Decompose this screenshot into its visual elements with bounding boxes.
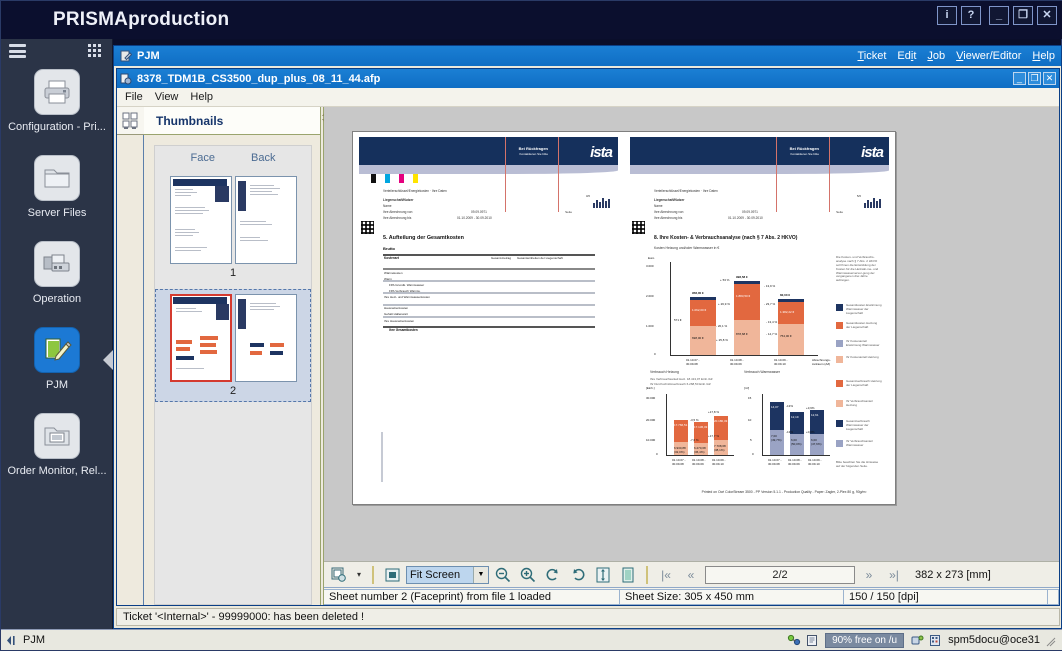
chart-costs: Euro 3.000 2.000 1.000 0 (646, 258, 826, 364)
page-label-right: Seite (836, 210, 843, 214)
network-icon[interactable] (787, 634, 800, 647)
viewer-statusbar: Sheet number 2 (Faceprint) from file 1 l… (324, 587, 1059, 605)
pjm-window: PJM Ticket Edit Job Viewer/Editor Help 8… (113, 45, 1062, 629)
page-footer: Printed on Océ ColorStream 3500 - PP Ver… (684, 490, 884, 494)
document-titlebar: 8378_TDM1B_CS3500_dup_plus_08_11_44.afp … (117, 69, 1059, 88)
fold-line (558, 137, 559, 212)
pjm-menubar: Ticket Edit Job Viewer/Editor Help (857, 50, 1055, 62)
section-title-left: 5. Aufteilung der Gesamtkosten (383, 235, 464, 241)
table-header-einheiten: Gesamteinheiten der Liegenschaft (517, 256, 567, 260)
document-menubar: File View Help (117, 88, 1059, 107)
table-row-label: FPA Grundk. Warmwasser (389, 283, 424, 287)
qr-code-icon (361, 221, 374, 234)
grid-apps-icon[interactable] (88, 44, 103, 58)
menu-edit[interactable]: Edit (897, 50, 916, 62)
fold-line (776, 137, 777, 212)
status-dpi: 150 / 150 [dpi] (843, 589, 1048, 605)
contact-heading-text: Bei Rückfragen (790, 146, 819, 151)
doc-period-to-value: 01.10.2009 - 30.09.2010 (728, 216, 763, 220)
page-header-band (359, 137, 618, 167)
thumbnails-title: Thumbnails (156, 114, 223, 128)
thumbnail-back[interactable] (235, 176, 297, 264)
thumbnail-back[interactable] (235, 294, 297, 382)
doc-property-label: Liegenschaft/Nutzer (654, 198, 684, 202)
color-calibration-bar (371, 174, 418, 183)
pjm-status-message: Ticket '<Internal>' - 99999000: has been… (116, 608, 1060, 626)
close-button[interactable]: ✕ (1037, 6, 1057, 25)
taskbar: PJM 90% free on /u (1, 629, 1062, 650)
tab-thumbnails[interactable] (117, 107, 144, 135)
sidebar-item-pjm[interactable]: PJM (1, 323, 113, 407)
table-row-label: Ihre Hausnebenkosten (384, 319, 414, 323)
page-viewer: ista Bei Rückfragen Kontaktieren Sie bit… (324, 107, 1059, 605)
doc-close-button[interactable]: ✕ (1043, 72, 1056, 85)
thumbnail-pair (170, 294, 297, 382)
press-icon (34, 241, 80, 287)
single-sheet-icon[interactable] (381, 565, 403, 585)
resize-grip[interactable] (1046, 634, 1059, 647)
fold-line (505, 137, 506, 212)
zoom-in-icon[interactable] (517, 565, 539, 585)
chart-caption-water: Verbrauch Warmwasser (744, 370, 780, 374)
rotate-left-icon[interactable] (542, 565, 564, 585)
thumbnails-body: Face Back (144, 135, 320, 605)
contact-heading-left: Bei Rückfragen Kontaktieren Sie bitte (519, 146, 548, 157)
section-sub-left: Brutto (383, 246, 395, 251)
viewer-toolbar: ▾ Fit Screen ▼ (324, 561, 1059, 587)
fit-width-icon[interactable] (617, 565, 639, 585)
status-sheet-info: Sheet number 2 (Faceprint) from file 1 l… (323, 589, 620, 605)
server-icon[interactable] (910, 634, 923, 647)
current-user: spm5docu@oce31 (948, 634, 1040, 646)
help-icon[interactable]: ? (961, 6, 981, 25)
table-row-label: FPA Verbrauch Warmw. (389, 289, 421, 293)
doc-subline: Verteilerschlüssel/Energiekosten · Ihre … (383, 189, 447, 193)
document-viewer-window: 8378_TDM1B_CS3500_dup_plus_08_11_44.afp … (116, 68, 1060, 606)
document-window-controls: _ ❐ ✕ (1013, 72, 1056, 85)
menu-view[interactable]: View (155, 91, 179, 103)
chevron-down-icon[interactable]: ▼ (473, 567, 488, 583)
thumbnail-number: 1 (230, 267, 236, 279)
table-header-gesamt: Gesamt-betrag (491, 256, 511, 260)
toolbar-separator (372, 566, 374, 584)
info-icon[interactable]: i (937, 6, 957, 25)
monitor-folder-icon (34, 413, 80, 459)
thumbnail-item[interactable]: 1 (155, 172, 311, 283)
document-page-right: ista Bei Rückfragen Kontaktieren Sie bit… (624, 132, 895, 504)
chart-heating-consumption: [Einh.] 30.000 20.000 10.000 0 17. (646, 390, 738, 462)
disk-usage-badge[interactable]: 90% free on /u (825, 633, 904, 648)
sheet-dimensions: 382 x 273 [mm] (915, 569, 991, 581)
viewer-split: Thumbnails Face Back (117, 107, 1059, 605)
thumbnails-panel: Thumbnails Face Back (144, 107, 321, 605)
doc-period-value: 09.09.0971 (742, 210, 758, 214)
document-page-left: ista Bei Rückfragen Kontaktieren Sie bit… (353, 132, 624, 504)
contact-sub-text: Kontaktieren Sie bitte (790, 152, 819, 156)
table-total-label: Ihre Gesamtkosten (389, 328, 418, 332)
doc-name-label: Name (654, 204, 663, 208)
printer-icon (34, 69, 80, 115)
menu-job[interactable]: Job (927, 50, 945, 62)
menu-help[interactable]: Help (1032, 50, 1055, 62)
doc-period-label: Ihre Abrechnung von (383, 210, 412, 214)
brand-logo-left: ista (590, 144, 612, 161)
legend-item-label: Ihr Kostenanteil Heizung (846, 355, 882, 359)
sidebar-item-server-files[interactable]: Server Files (1, 151, 113, 235)
doc-period-to-label: Ihre Abrechnung bis (383, 216, 411, 220)
page-bar-indicator (593, 196, 610, 208)
application-window: PRISMAproduction i ? _ ❐ ✕ (0, 0, 1062, 651)
sidebar-item-configuration[interactable]: Configuration - Pri... (1, 65, 113, 149)
doc-period-to-label: Ihre Abrechnung bis (654, 216, 682, 220)
doc-period-to-value: 01.10.2009 - 30.09.2010 (457, 216, 492, 220)
pjm-icon (120, 50, 132, 62)
chart-water-consumption: [m³] 15 10 5 0 14,07 (744, 390, 836, 462)
legend-item-label: Gesamtverbrauch Warmwasser der Liegensch… (846, 419, 882, 431)
zoom-level-select[interactable]: Fit Screen ▼ (406, 566, 489, 584)
doc-period-label: Ihre Abrechnung von (654, 210, 683, 214)
contact-heading-right: Bei Rückfragen Kontaktieren Sie bitte (790, 146, 819, 157)
prev-page-icon[interactable]: « (680, 565, 702, 585)
page-indicator[interactable]: 2/2 (705, 566, 855, 584)
legend-item-label: Gesamtverbrauch Heizung der Liegenschaft (846, 379, 882, 387)
legend-item-label: Ihr Verbrauchsanteil Heizung (846, 399, 882, 407)
column-back: Back (251, 152, 275, 164)
zoom-level-value: Fit Screen (407, 567, 473, 583)
table-row-label: Warm (384, 277, 392, 281)
taskbar-app-label[interactable]: PJM (23, 634, 45, 646)
thumbnail-pair (170, 176, 297, 264)
afp-file-icon (120, 73, 132, 85)
taskbar-right: 90% free on /u spm5docu@oce31 (787, 633, 1059, 648)
sidebar-item-label: Server Files (3, 207, 111, 219)
menu-file[interactable]: File (125, 91, 143, 103)
doc-period-value: 09.09.0971 (471, 210, 487, 214)
thumbnails-grid-icon (122, 112, 139, 130)
sidebar-item-label: PJM (3, 379, 111, 391)
pjm-titlebar: PJM Ticket Edit Job Viewer/Editor Help (114, 46, 1061, 66)
host-icon (929, 634, 942, 647)
page-count-label: 5/6 (857, 194, 861, 198)
sidebar-header (1, 39, 112, 63)
chart-legend-bottom: Gesamtverbrauch Heizung der Liegenschaft… (836, 380, 884, 464)
section-title-right: 8. Ihre Kosten- & Verbrauchsanalyse (nac… (654, 235, 834, 241)
column-face: Face (191, 152, 215, 164)
toolbar-separator (646, 566, 648, 584)
qr-code-icon (632, 221, 645, 234)
fold-line (829, 137, 830, 212)
table-row-label: Gehalt Hallenwart (384, 312, 408, 316)
rotate-right-icon[interactable] (567, 565, 589, 585)
page-label-left: Seite (565, 210, 572, 214)
sidebar-item-operation[interactable]: Operation (1, 237, 113, 321)
legend-item-label: Ihr Kostenanteil Erwärmung Warmwasser (846, 339, 882, 347)
legend-item-label: Ihr Verbrauchsanteil Warmwasser (846, 439, 882, 447)
thumbnail-item[interactable]: 2 (155, 289, 311, 402)
window-controls: i ? _ ❐ ✕ (937, 6, 1057, 25)
chart-legend: Die Kosten- und Verbrauchs-analyse nach … (836, 258, 884, 368)
thumbnail-face[interactable] (170, 294, 232, 382)
sidebar-item-order-monitor[interactable]: Order Monitor, Rel... (1, 409, 113, 493)
menu-viewer-editor[interactable]: Viewer/Editor (956, 50, 1021, 62)
fit-page-icon[interactable] (592, 565, 614, 585)
sidebar-item-label: Operation (3, 293, 111, 305)
status-sheet-size: Sheet Size: 305 x 450 mm (619, 589, 844, 605)
menu-ticket[interactable]: Ticket (857, 50, 886, 62)
notes-icon[interactable] (806, 634, 819, 647)
section-sub-right: Kosten Heizung und/oder Warmwasser in € (654, 246, 719, 250)
doc-minimize-button[interactable]: _ (1013, 72, 1026, 85)
menu-help[interactable]: Help (190, 91, 213, 103)
cost-table: Kostenart Gesamt-betrag Gesamteinheiten … (383, 254, 595, 328)
contact-sub-text: Kontaktieren Sie bitte (519, 152, 548, 156)
thumbnail-number: 2 (230, 385, 236, 397)
brand-logo-right: ista (861, 144, 883, 161)
legend-item-label: Gesamtkosten Heizung der Liegenschaft (846, 321, 882, 329)
table-row-label: Ihre Heiz- und Warmwasserkosten (384, 295, 430, 299)
doc-name-label: Name (383, 204, 392, 208)
viewer-canvas[interactable]: ista Bei Rückfragen Kontaktieren Sie bit… (324, 107, 1059, 561)
thumbnails-header: Thumbnails (144, 107, 320, 135)
doc-restore-button[interactable]: ❐ (1028, 72, 1041, 85)
next-page-icon[interactable]: » (858, 565, 880, 585)
collapse-icon[interactable] (5, 634, 18, 647)
last-page-icon[interactable]: »| (883, 565, 905, 585)
sidebar-item-label: Order Monitor, Rel... (3, 465, 111, 477)
side-tabstrip (117, 107, 144, 605)
first-page-icon[interactable]: |« (655, 565, 677, 585)
page-header-band (630, 137, 889, 167)
page-bar-indicator (864, 196, 881, 208)
folder-icon (34, 155, 80, 201)
doc-subline: Verteilerschlüssel/Energiekosten · Ihre … (654, 189, 718, 193)
page-edge-mark (381, 432, 383, 482)
pjm-title-text: PJM (137, 50, 160, 62)
document-title-text: 8378_TDM1B_CS3500_dup_plus_08_11_44.afp (137, 73, 380, 85)
hamburger-icon[interactable] (9, 44, 26, 58)
doc-property-label: Liegenschaft/Nutzer (383, 198, 413, 202)
sidebar-item-label: Configuration - Pri... (3, 121, 111, 133)
minimize-button[interactable]: _ (989, 6, 1009, 25)
sheet-preview[interactable]: ista Bei Rückfragen Kontaktieren Sie bit… (352, 131, 896, 505)
thumbnail-face[interactable] (170, 176, 232, 264)
view-mode-dropdown-icon[interactable]: ▾ (353, 565, 365, 585)
thumbnails-column-headers: Face Back (155, 152, 311, 164)
legend-item-label: Gesamtkosten Erwärmung Warmwasser der Li… (846, 303, 882, 315)
sidebar: Configuration - Pri... Server Files (1, 39, 113, 631)
status-extra (1047, 589, 1059, 605)
chart-caption-heating: Verbrauch Heizung (650, 370, 679, 374)
maximize-button[interactable]: ❐ (1013, 6, 1033, 25)
app-titlebar: PRISMAproduction i ? _ ❐ ✕ (1, 1, 1062, 39)
edit-document-icon (34, 327, 80, 373)
thumbnails-list[interactable]: Face Back (154, 145, 312, 605)
table-header-kostenart: Kostenart (384, 256, 399, 260)
table-row-label: Wärmekosten (384, 271, 403, 275)
zoom-out-icon[interactable] (492, 565, 514, 585)
contact-heading-text: Bei Rückfragen (519, 146, 548, 151)
table-row-label: Hausnebenkosten (384, 306, 408, 310)
page-view-icon[interactable] (328, 565, 350, 585)
taskbar-left: PJM (5, 634, 45, 647)
page-count-label: 3/6 (586, 194, 590, 198)
page-title: PRISMAproduction (53, 9, 229, 31)
